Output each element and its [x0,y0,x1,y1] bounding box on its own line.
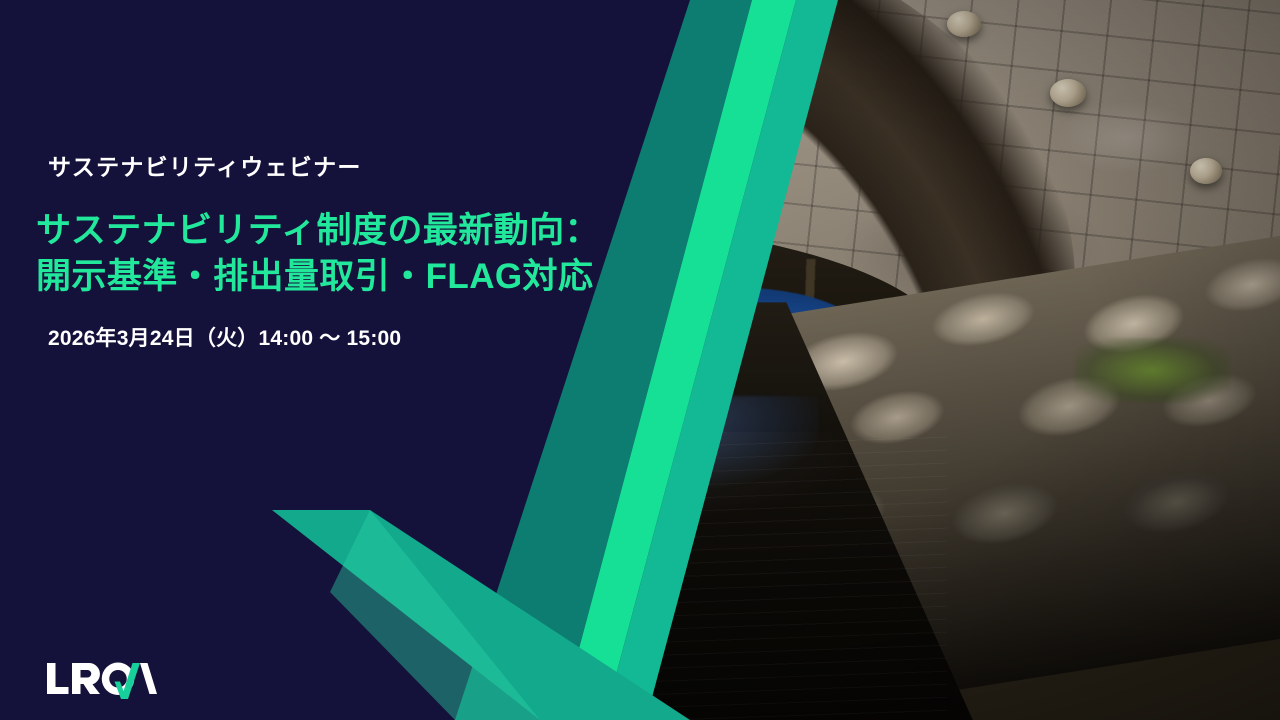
page-title-line-2: 開示基準・排出量取引・FLAG対応 [36,254,600,300]
page-title: サステナビリティ制度の最新動向： 開示基準・排出量取引・FLAG対応 [36,208,600,299]
logo-letter-r [72,663,100,694]
lrqa-logo [45,658,157,702]
webinar-banner: サステナビリティウェビナー サステナビリティ制度の最新動向： 開示基準・排出量取… [0,0,1280,720]
event-datetime: 2026年3月24日（火）14:00 〜 15:00 [48,322,401,352]
text-content: サステナビリティウェビナー サステナビリティ制度の最新動向： 開示基準・排出量取… [48,0,688,720]
lrqa-wordmark [47,663,157,700]
logo-letter-a [140,663,157,694]
page-title-line-1: サステナビリティ制度の最新動向： [36,208,600,254]
logo-letter-l [47,663,69,694]
eyebrow-label: サステナビリティウェビナー [48,148,362,182]
